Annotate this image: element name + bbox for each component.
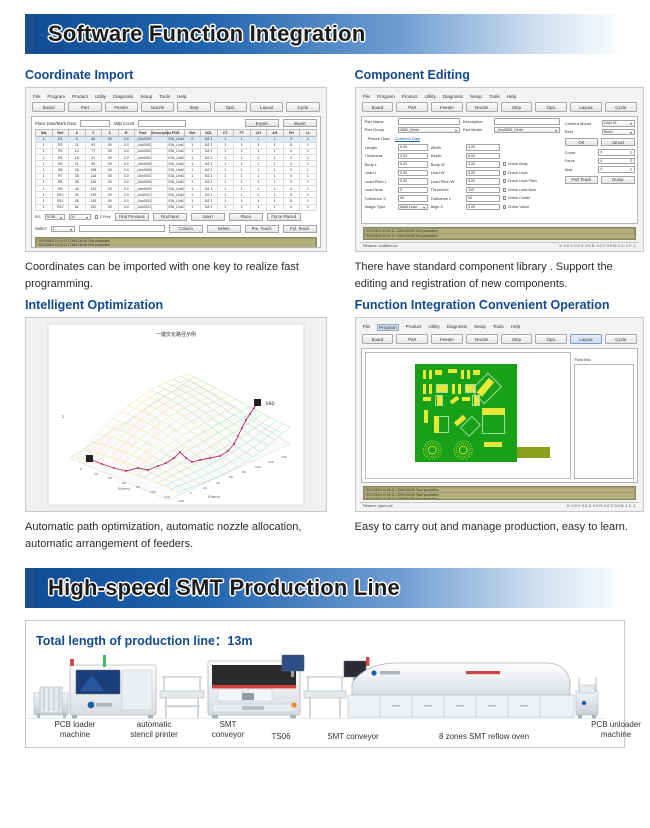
spinner-label: Side xyxy=(565,167,595,172)
pcb-board[interactable] xyxy=(415,364,517,462)
tab-common-data[interactable]: Common Data xyxy=(395,136,421,142)
toolbar-button-layout[interactable]: Layout xyxy=(250,102,283,112)
table-cell[interactable]: 1 xyxy=(184,204,201,210)
camera-mount-row: Camera Mount CAM 4F xyxy=(565,119,635,128)
field-label: Length xyxy=(365,145,395,150)
place-data-input[interactable] xyxy=(80,120,110,127)
toolbar-button-layout[interactable]: Layout xyxy=(570,334,602,344)
app-window-function-integration: FileProgramProductUtilityDiagnosisSetupT… xyxy=(356,318,643,511)
table-cell[interactable]: R12 xyxy=(52,204,69,210)
log-line: 2021/03/04 10:24:11 COM4:Ok/OK Start pro… xyxy=(365,488,634,492)
checkbox-label: Check Body xyxy=(508,162,528,166)
main-panel: Part Name Description Part Group 0805_Ci… xyxy=(361,116,638,224)
part-group-select[interactable]: 0805_Circle xyxy=(398,127,460,134)
mtlp-count-label: Mtlp Count xyxy=(114,121,134,126)
plot-y-axis-label: Y(mm) xyxy=(118,487,131,491)
svg-text:80: 80 xyxy=(242,470,246,474)
main-panel: Point Info xyxy=(361,348,638,483)
menu-item-file[interactable]: File xyxy=(33,94,40,99)
feature-caption-intelligent-optimization: Automatic path optimization, automatic n… xyxy=(25,519,327,552)
spinner-row: Side4 xyxy=(565,165,635,174)
checkbox-check-lead-pitch[interactable]: Check Lead Pitch xyxy=(503,179,537,183)
table-cell[interactable] xyxy=(151,204,168,210)
feature-cell-intelligent-optimization: Intelligent Optimization 一键优化路径示例 xyxy=(25,298,327,552)
field-label: Image Type xyxy=(365,204,395,209)
plot-x-axis-label: X(mm) xyxy=(208,495,221,499)
toolbar-button-nozzle[interactable]: Nozzle xyxy=(466,102,498,112)
part-name-input[interactable] xyxy=(398,118,460,125)
spinner-input[interactable]: 4 xyxy=(598,158,635,165)
production-line-illustration xyxy=(26,647,606,719)
svg-text:20: 20 xyxy=(203,486,207,490)
point-info-box[interactable] xyxy=(574,364,633,479)
menu-item-file[interactable]: File xyxy=(363,94,370,99)
checkbox-box[interactable] xyxy=(503,188,507,192)
feature-heading-coordinate-import: Coordinate Import xyxy=(25,68,327,82)
menu-item-diagnosis[interactable]: Diagnosis xyxy=(113,94,133,99)
table-cell[interactable]: 00 xyxy=(102,204,119,210)
form-row: Lead Pitch L5.00Lead Pitch W5.00Check Le… xyxy=(362,177,563,186)
inc-value-select[interactable]: 00 xyxy=(69,214,91,221)
log-panel[interactable]: 2021/03/04 10:24:11 COM4:Ok/OK End produ… xyxy=(35,237,317,248)
edit-row-2: Select 1 Column Delete Pre. Teach Fid. T… xyxy=(32,223,320,235)
toolbar-button-opti[interactable]: Opti. xyxy=(535,334,567,344)
fid-teach-button[interactable]: Fid. Teach xyxy=(283,225,317,233)
field-label: Lead L xyxy=(365,170,395,175)
field-input[interactable]: 50 xyxy=(466,195,500,202)
description-label: Description xyxy=(463,119,491,124)
part-name-label: Part Name xyxy=(365,119,395,124)
field-input[interactable]: 6.00 xyxy=(398,161,428,168)
field-label: Align Z xyxy=(431,204,463,209)
component-form[interactable]: Length6.00Width4.00Thickness2.00Depth5.0… xyxy=(362,143,563,211)
field-input[interactable]: 6.00 xyxy=(398,144,428,151)
menu-item-program[interactable]: Program xyxy=(47,94,65,99)
reel-select[interactable]: Reel1 xyxy=(602,129,635,136)
insert-button[interactable]: Insert xyxy=(191,213,225,221)
feature-heading-component-editing: Component Editing xyxy=(355,68,644,82)
place-data-label: Place Data/Mark Data xyxy=(35,121,76,126)
toolbar-button-step[interactable]: Step xyxy=(501,334,533,344)
svg-text:120: 120 xyxy=(268,460,274,464)
toolbar-button-layout[interactable]: Layout xyxy=(570,102,602,112)
menu-item-product[interactable]: Product xyxy=(72,94,88,99)
toolbar-button-board[interactable]: Board xyxy=(32,102,65,112)
field-input[interactable]: 4.00 xyxy=(466,144,500,151)
toolbar-button-cycle[interactable]: Cycle xyxy=(286,102,319,112)
machine-label-ts06: TS06 xyxy=(254,732,308,742)
section-banner-production: High-speed SMT Production Line xyxy=(25,568,625,608)
ok-button[interactable]: OK xyxy=(565,138,599,146)
force-placed-button[interactable]: Force Placed xyxy=(267,213,301,221)
toolbar-button-feeder[interactable]: Feeder xyxy=(431,102,463,112)
toolbar-button-step[interactable]: Step xyxy=(501,102,533,112)
form-row: Lead Num0Threshold100Check Lead Num xyxy=(362,186,563,195)
menu-item-help[interactable]: Help xyxy=(507,94,516,99)
dump-button[interactable]: Dump xyxy=(601,176,635,184)
status-coordinates: X: 0.0 Y: 0.0 Z: 0.0 R: 0.0 T: 0.0 N: 1 … xyxy=(559,244,635,248)
spinner-group[interactable]: Count4Force4Side4 xyxy=(565,148,635,174)
banner-gradient: High-speed SMT Production Line xyxy=(34,568,625,608)
reel-row: Reel Reel1 xyxy=(565,128,635,137)
log-line: 2021/03/04 10:24:11 COM4:Ok/OK End produ… xyxy=(37,239,315,243)
svg-text:40: 40 xyxy=(216,481,220,485)
feature-caption-coordinate-import: Coordinates can be imported with one key… xyxy=(25,259,327,292)
screenshot-intelligent-optimization: 一键优化路径示例 END 002020404060608080100100120… xyxy=(25,317,327,512)
import-button[interactable]: Import xyxy=(283,119,317,127)
status-bar: TsName: Untitled.cvt X: 0.0 Y: 0.0 Z: 0.… xyxy=(360,242,639,249)
menu-item-diagnosis[interactable]: Diagnosis xyxy=(447,324,467,331)
table-cell[interactable]: 1 xyxy=(217,204,234,210)
svg-text:100: 100 xyxy=(255,465,261,469)
checkbox-check-vision[interactable]: Check Vision xyxy=(503,205,530,209)
spinner-label: Force xyxy=(565,158,595,163)
toolbar-button-cycle[interactable]: Cycle xyxy=(605,334,637,344)
toolbar-button-board[interactable]: Board xyxy=(362,334,394,344)
spinner-label: Count xyxy=(565,150,595,155)
checkbox-label: Check Vision xyxy=(508,205,529,209)
feature-cell-coordinate-import: Coordinate Import FileProgramProductUtil… xyxy=(25,68,327,292)
log-panel[interactable]: 2021/03/04 10:24:11 COM4:Ok/OK Start pro… xyxy=(363,486,636,500)
checkbox-box[interactable] xyxy=(503,171,507,175)
menu-item-setup[interactable]: Setup xyxy=(474,324,486,331)
spinner-input[interactable]: 4 xyxy=(598,166,635,173)
select-dropdown[interactable]: 1 xyxy=(51,226,75,233)
log-line: 2021/03/04 10:24:11 COM4:Ok/OK End produ… xyxy=(37,243,315,247)
checkbox-box[interactable] xyxy=(503,205,507,209)
machine-label-reflow-oven: 8 zones SMT reflow oven xyxy=(394,732,574,742)
toolbar-button-part[interactable]: Part xyxy=(396,334,428,344)
place-button[interactable]: Place xyxy=(229,213,263,221)
checkbox-box[interactable] xyxy=(503,179,507,183)
svg-text:0: 0 xyxy=(190,491,192,495)
table-cell[interactable]: NZ 1 xyxy=(201,204,218,210)
inc-label: Inc xyxy=(35,214,41,219)
toolbar-button-feeder[interactable]: Feeder xyxy=(105,102,138,112)
optimization-plot: 一键优化路径示例 END 002020404060608080100100120… xyxy=(26,318,326,511)
log-line: 2021/03/04 10:24:11 COM4:Ok/OK End produ… xyxy=(365,229,634,233)
find-previous-button[interactable]: Find Previous xyxy=(115,213,149,221)
inc-select[interactable]: SORL xyxy=(45,214,65,221)
field-label: Tolerance L xyxy=(431,196,463,201)
part-model-label: Part Model xyxy=(463,127,491,132)
status-filename: TsName: jgxm.cvt xyxy=(363,504,393,508)
app-window-coordinate-import: FileProgramProductUtilityDiagnosisSetupT… xyxy=(26,88,326,251)
machine-label-pcb-loader: PCB loadermachine xyxy=(36,720,114,740)
menu-item-program[interactable]: Program xyxy=(377,94,395,99)
checkbox-label: Check Lead Pitch xyxy=(508,179,537,183)
field-input[interactable]: 0 xyxy=(398,187,428,194)
form-row: Lead L5.00Lead W5.00Check Lead xyxy=(362,169,563,178)
checkbox-label: Check Center xyxy=(508,196,531,200)
form-row: Image TypeMulti LeadAlign Z0.00Check Vis… xyxy=(362,203,563,212)
screenshot-function-integration: FileProgramProductUtilityDiagnosisSetupT… xyxy=(355,317,644,512)
checkbox-check-lead[interactable]: Check Lead xyxy=(503,171,528,175)
menu-item-utility[interactable]: Utility xyxy=(425,94,436,99)
checkbox-box[interactable] xyxy=(503,162,507,166)
table-row[interactable]: 1R1261152000.0_Unk0012EIA_Unk0001 Auto1N… xyxy=(36,204,317,210)
part-group-row: Part Group 0805_Circle Part Model _Unk08… xyxy=(362,126,563,135)
machine-label-smt-conveyor-2: SMT conveyor xyxy=(304,732,402,742)
menubar[interactable]: FileProgramProductUtilityDiagnosisSetupT… xyxy=(30,92,322,100)
svg-text:40: 40 xyxy=(108,476,112,480)
section-banner-software: Software Function Integration xyxy=(25,14,625,54)
menu-item-setup[interactable]: Setup xyxy=(470,94,482,99)
field-label: Thickness xyxy=(365,153,395,158)
cancel-button[interactable]: cancel xyxy=(601,138,635,146)
find-next-button[interactable]: Find Next xyxy=(153,213,187,221)
menu-item-utility[interactable]: Utility xyxy=(429,324,440,331)
toolbar[interactable]: BoardPartFeederNozzleStepOpti.LayoutCycl… xyxy=(360,100,639,115)
part-teach-button[interactable]: Part Teach xyxy=(565,176,599,184)
menu-item-product[interactable]: Product xyxy=(402,94,418,99)
menu-item-tools[interactable]: Tools xyxy=(159,94,170,99)
machine-label-pcb-unloader: PCB unloadermachine xyxy=(574,720,650,740)
column-button[interactable]: Column xyxy=(169,225,203,233)
select-text-input[interactable] xyxy=(79,225,165,232)
table-cell[interactable]: 1 xyxy=(267,204,284,210)
checkbox-check-center[interactable]: Check Center xyxy=(503,196,531,200)
menu-item-diagnosis[interactable]: Diagnosis xyxy=(443,94,463,99)
form-row: Body L6.00Body W4.00Check Body xyxy=(362,160,563,169)
section-title-production: High-speed SMT Production Line xyxy=(48,575,400,601)
field-label: Lead Pitch L xyxy=(365,179,395,184)
spinner-row: Force4 xyxy=(565,157,635,166)
field-label: Threshold xyxy=(431,187,463,192)
menu-item-help[interactable]: Help xyxy=(511,324,520,331)
table-cell[interactable]: 1 xyxy=(234,204,251,210)
field-input[interactable]: 5.00 xyxy=(466,153,500,160)
field-input[interactable]: 5.00 xyxy=(466,170,500,177)
feature-caption-component-editing: There have standard component library . … xyxy=(355,259,644,292)
field-input[interactable]: 4.00 xyxy=(466,161,500,168)
toolbar-button-part[interactable]: Part xyxy=(396,102,428,112)
svg-text:120: 120 xyxy=(164,495,170,499)
machine-label-smt-conveyor-1: SMTconveyor xyxy=(196,720,260,740)
menubar[interactable]: FileProgramProductUtilityDiagnosisSetupT… xyxy=(360,322,639,332)
menu-item-tools[interactable]: Tools xyxy=(489,94,500,99)
checkbox-check-body[interactable]: Check Body xyxy=(503,162,528,166)
toolbar[interactable]: BoardPartFeederNozzleStepOpti.LayoutCycl… xyxy=(30,100,322,115)
feature-heading-intelligent-optimization: Intelligent Optimization xyxy=(25,298,327,312)
menu-item-setup[interactable]: Setup xyxy=(140,94,152,99)
pre-teach-button[interactable]: Pre. Teach xyxy=(245,225,279,233)
table-cell[interactable]: EIA_Unk0001 Auto xyxy=(168,204,185,210)
field-input[interactable]: 5.00 xyxy=(398,170,428,177)
status-filename: TsName: Untitled.cvt xyxy=(363,244,398,248)
toolbar-button-opti[interactable]: Opti. xyxy=(214,102,247,112)
screenshot-component-editing: FileProgramProductUtilityDiagnosisSetupT… xyxy=(355,87,644,252)
banner-gradient: Software Function Integration xyxy=(34,14,625,54)
plot-end-label: END xyxy=(266,401,275,406)
checkbox-label: Check Lead xyxy=(508,171,528,175)
toolbar-button-part[interactable]: Part xyxy=(68,102,101,112)
feature-cell-function-integration: Function Integration Convenient Operatio… xyxy=(355,298,644,552)
production-line-labels: PCB loadermachine automaticstencil print… xyxy=(26,720,624,748)
table-cell[interactable]: 152 xyxy=(85,204,102,210)
toolbar-button-nozzle[interactable]: Nozzle xyxy=(466,334,498,344)
field-input[interactable]: Multi Lead xyxy=(398,204,428,211)
menu-item-program[interactable]: Program xyxy=(377,324,399,331)
log-panel[interactable]: 2021/03/04 10:24:11 COM4:Ok/OK End produ… xyxy=(363,227,636,240)
form-row: Thickness2.00Depth5.00 xyxy=(362,152,563,161)
feature-heading-function-integration: Function Integration Convenient Operatio… xyxy=(355,298,644,312)
banner-accent-bar xyxy=(25,14,34,54)
field-label: Lead Num xyxy=(365,187,395,192)
svg-text:60: 60 xyxy=(122,481,126,485)
machine-label-stencil-printer: automaticstencil printer xyxy=(108,720,200,740)
filter-row: Place Data/Mark Data Mtlp Count Export I… xyxy=(32,117,320,129)
feature-caption-function-integration: Easy to carry out and manage production,… xyxy=(355,519,644,536)
tab-picture-data[interactable]: Picture Data xyxy=(368,136,390,142)
table-cell[interactable]: 1 xyxy=(36,204,53,210)
toolbar-button-opti[interactable]: Opti. xyxy=(535,102,567,112)
menu-item-tools[interactable]: Tools xyxy=(493,324,504,331)
form-row: Tolerance X50Tolerance L50Check Center xyxy=(362,194,563,203)
menu-item-file[interactable]: File xyxy=(363,324,370,331)
field-input[interactable]: 2.00 xyxy=(398,153,428,160)
spinner-row: Count4 xyxy=(565,148,635,157)
form-tabs[interactable]: Picture Data Common Data xyxy=(362,134,563,143)
status-coordinates: X: 0.0 Y: 0.0 Z: 0.0 R: 0.0 T: 0.0 N: 1 … xyxy=(567,504,636,508)
part-model-select[interactable]: _Unk0805_Circle xyxy=(494,127,560,134)
field-label: Body L xyxy=(365,162,395,167)
app-window-component-editing: FileProgramProductUtilityDiagnosisSetupT… xyxy=(356,88,643,251)
page-root: Software Function Integration Coordinate… xyxy=(0,14,650,828)
toolbar-button-board[interactable]: Board xyxy=(362,102,394,112)
coordinate-table[interactable]: StkRefXYZRPartDescriptionFDRRefNZLCTFTCH… xyxy=(35,129,317,211)
field-input[interactable]: 100 xyxy=(466,187,500,194)
status-bar: TsName: jgxm.cvt X: 0.0 Y: 0.0 Z: 0.0 R:… xyxy=(360,502,639,509)
svg-text:60: 60 xyxy=(229,475,233,479)
part-name-row: Part Name Description xyxy=(362,117,563,126)
svg-text:140: 140 xyxy=(281,455,287,459)
field-label: Width xyxy=(431,145,463,150)
log-line: 2021/03/04 10:24:11 COM4:Ok/OK End produ… xyxy=(365,234,634,238)
feature-grid: Coordinate Import FileProgramProductUtil… xyxy=(25,68,625,552)
table-cell[interactable]: 1 xyxy=(250,204,267,210)
reel-label: Reel xyxy=(565,129,599,134)
toolbar-button-nozzle[interactable]: Nozzle xyxy=(141,102,174,112)
checkbox-box[interactable] xyxy=(503,196,507,200)
feature-cell-component-editing: Component Editing FileProgramProductUtil… xyxy=(355,68,644,292)
z-prior-checkbox[interactable]: Z Prior xyxy=(95,215,111,219)
field-input[interactable]: 5.00 xyxy=(398,178,428,185)
table-cell[interactable]: 0.0 xyxy=(118,204,135,210)
form-row: Length6.00Width4.00 xyxy=(362,143,563,152)
table-cell[interactable]: 61 xyxy=(69,204,86,210)
field-label: Lead W xyxy=(431,170,463,175)
section-title-software: Software Function Integration xyxy=(48,21,365,47)
field-label: Lead Pitch W xyxy=(431,179,463,184)
menubar[interactable]: FileProgramProductUtilityDiagnosisSetupT… xyxy=(360,92,639,100)
menu-item-utility[interactable]: Utility xyxy=(95,94,106,99)
svg-text:0: 0 xyxy=(80,467,82,471)
svg-text:20: 20 xyxy=(94,472,98,476)
select-label: Select xyxy=(35,226,47,231)
table-cell[interactable]: _Unk0012 xyxy=(135,204,152,210)
toolbar-button-feeder[interactable]: Feeder xyxy=(431,334,463,344)
edit-row-1: Inc SORL 00 Z Prior Find Previous Find N… xyxy=(32,211,320,223)
description-input[interactable] xyxy=(494,118,560,125)
checkbox-label: Check Lead Num xyxy=(508,188,537,192)
log-line: 2021/03/04 10:24:11 COM4:Ok/OK Start pro… xyxy=(365,497,634,500)
mtlp-count-input[interactable] xyxy=(138,120,186,127)
menu-item-product[interactable]: Product xyxy=(406,324,422,331)
point-info-label: Point Info xyxy=(574,358,633,362)
part-group-label: Part Group xyxy=(365,127,395,132)
table-cell[interactable]: 1 xyxy=(300,204,317,210)
field-label: Depth xyxy=(431,153,463,158)
toolbar[interactable]: BoardPartFeederNozzleStepOpti.LayoutCycl… xyxy=(360,332,639,347)
export-button[interactable]: Export xyxy=(245,119,279,127)
log-line: 2021/03/04 10:24:11 COM4:Ok/OK Start pro… xyxy=(365,493,634,497)
field-input[interactable]: 5.00 xyxy=(466,178,500,185)
menu-item-help[interactable]: Help xyxy=(177,94,186,99)
main-panel: Place Data/Mark Data Mtlp Count Export I… xyxy=(31,116,321,248)
camera-mount-label: Camera Mount xyxy=(565,121,599,126)
pcb-layout-canvas[interactable] xyxy=(365,352,572,479)
surface-mesh-chart: 一键优化路径示例 END 002020404060608080100100120… xyxy=(40,318,312,511)
field-input[interactable]: 50 xyxy=(398,195,428,202)
spinner-input[interactable]: 4 xyxy=(598,149,635,156)
field-input[interactable]: 0.00 xyxy=(466,204,500,211)
field-label: Body W xyxy=(431,162,463,167)
toolbar-button-cycle[interactable]: Cycle xyxy=(605,102,637,112)
toolbar-button-step[interactable]: Step xyxy=(177,102,210,112)
plot-title: 一键优化路径示例 xyxy=(156,331,196,338)
field-label: Tolerance X xyxy=(365,196,395,201)
point-info-panel: Point Info xyxy=(574,352,633,479)
screenshot-coordinate-import: FileProgramProductUtilityDiagnosisSetupT… xyxy=(25,87,327,252)
svg-text:80: 80 xyxy=(136,485,140,489)
svg-text:140: 140 xyxy=(178,499,184,503)
table-cell[interactable]: 0 xyxy=(283,204,300,210)
production-line-box: Total length of production line：13m xyxy=(25,620,625,748)
camera-mount-select[interactable]: CAM 4F xyxy=(602,120,635,127)
banner-accent-bar xyxy=(25,568,34,608)
svg-text:100: 100 xyxy=(150,490,156,494)
checkbox-check-lead-num[interactable]: Check Lead Num xyxy=(503,188,537,192)
delete-button[interactable]: Delete xyxy=(207,225,241,233)
z-prior-label: Z Prior xyxy=(100,215,111,219)
table-body[interactable]: 1R1546000.0_Unk0001EIA_Unk0001 Auto0NZ 1… xyxy=(36,136,317,210)
